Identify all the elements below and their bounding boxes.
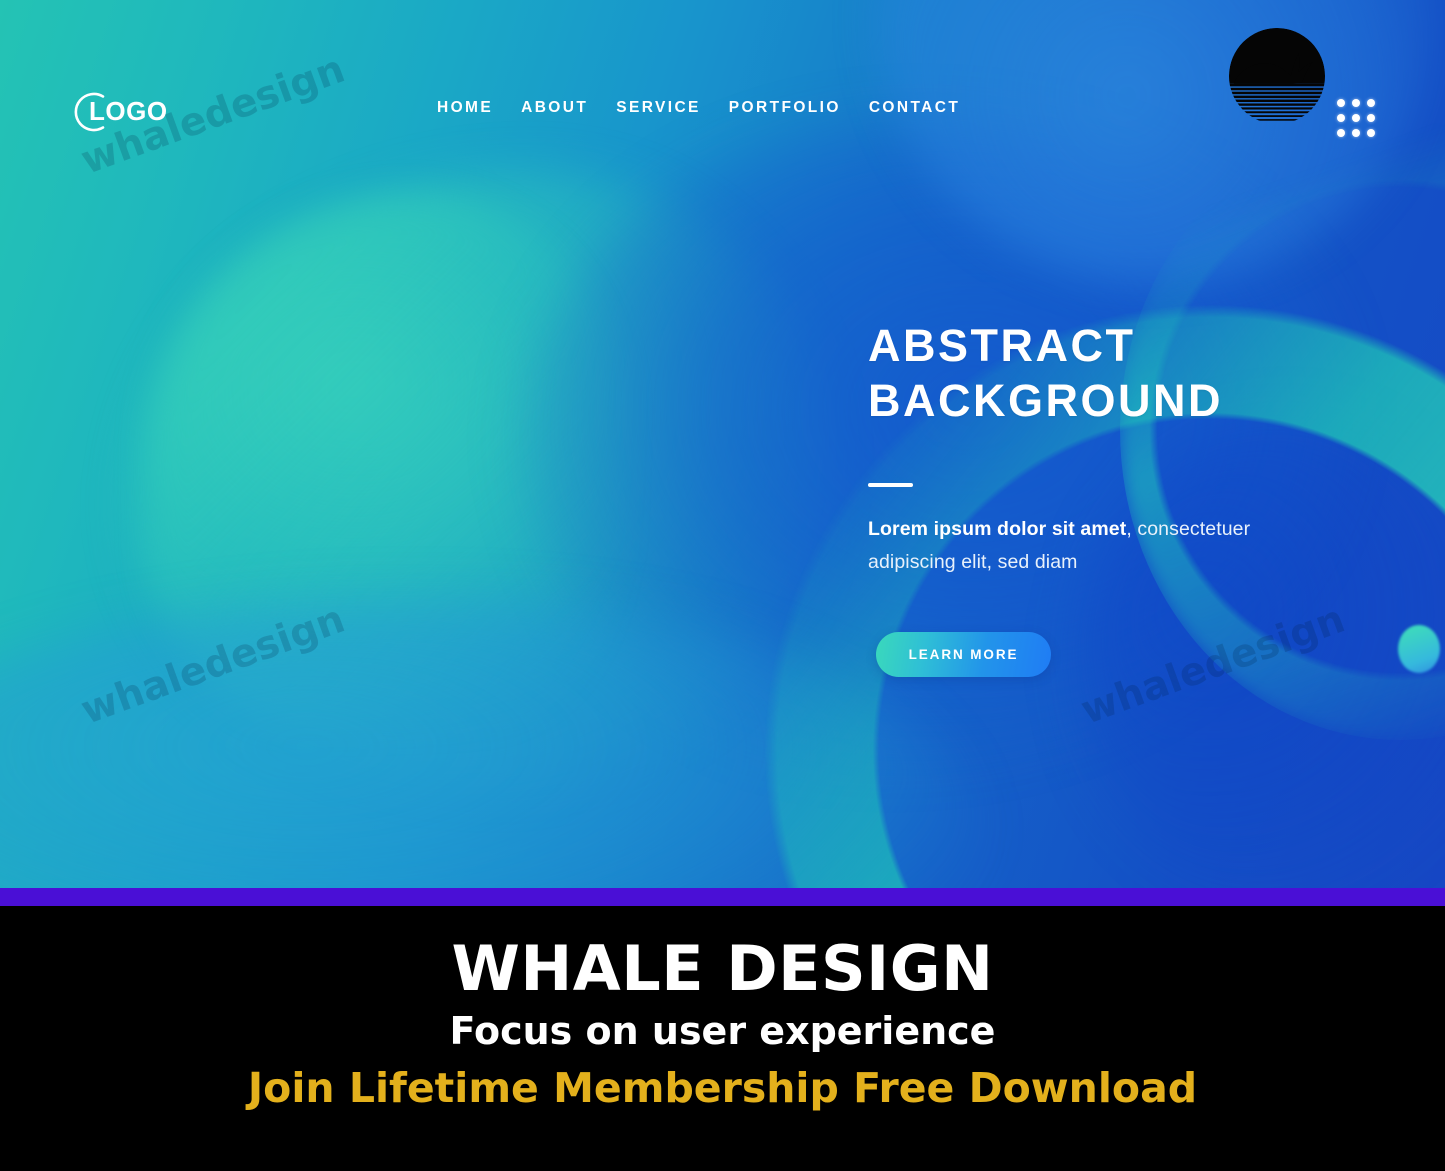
nav-item-portfolio[interactable]: PORTFOLIO [729,99,841,117]
nav-item-home[interactable]: HOME [437,99,493,117]
hero-subtitle: Lorem ipsum dolor sit amet, consectetuer… [868,513,1338,579]
grid-dot [1352,114,1360,122]
grid-dot [1367,99,1375,107]
decorative-teal-dot [1398,625,1440,673]
hero-section: LOGO HOME ABOUT SERVICE PORTFOLIO CONTAC… [0,0,1445,888]
main-navigation: HOME ABOUT SERVICE PORTFOLIO CONTACT [437,99,960,117]
dot-grid-icon[interactable] [1337,99,1375,137]
site-logo[interactable]: LOGO [70,86,230,138]
banner-cta-text: Join Lifetime Membership Free Download [0,1054,1445,1112]
site-header: LOGO HOME ABOUT SERVICE PORTFOLIO CONTAC… [0,0,1445,160]
grid-dot [1337,129,1345,137]
nav-item-about[interactable]: ABOUT [521,99,588,117]
banner-title: WHALE DESIGN [0,906,1445,1004]
purple-divider-bar [0,888,1445,906]
promo-banner: WHALE DESIGN Focus on user experience Jo… [0,906,1445,1171]
grid-dot [1352,129,1360,137]
hero-subtitle-bold: Lorem ipsum dolor sit amet [868,518,1126,540]
nav-item-service[interactable]: SERVICE [616,99,701,117]
logo-text: LOGO [89,96,168,126]
banner-subtitle: Focus on user experience [0,1004,1445,1054]
poster-root: LOGO HOME ABOUT SERVICE PORTFOLIO CONTAC… [0,0,1445,1171]
hero-title: ABSTRACT BACKGROUND [868,318,1338,428]
grid-dot [1337,114,1345,122]
nav-item-contact[interactable]: CONTACT [869,99,960,117]
grid-dot [1367,129,1375,137]
grid-dot [1337,99,1345,107]
whale-circle-icon[interactable] [1228,27,1326,125]
grid-dot [1367,114,1375,122]
learn-more-button[interactable]: LEARN MORE [876,632,1051,677]
hero-divider-rule [868,483,913,487]
hero-copy-block: ABSTRACT BACKGROUND Lorem ipsum dolor si… [868,288,1338,599]
grid-dot [1352,99,1360,107]
